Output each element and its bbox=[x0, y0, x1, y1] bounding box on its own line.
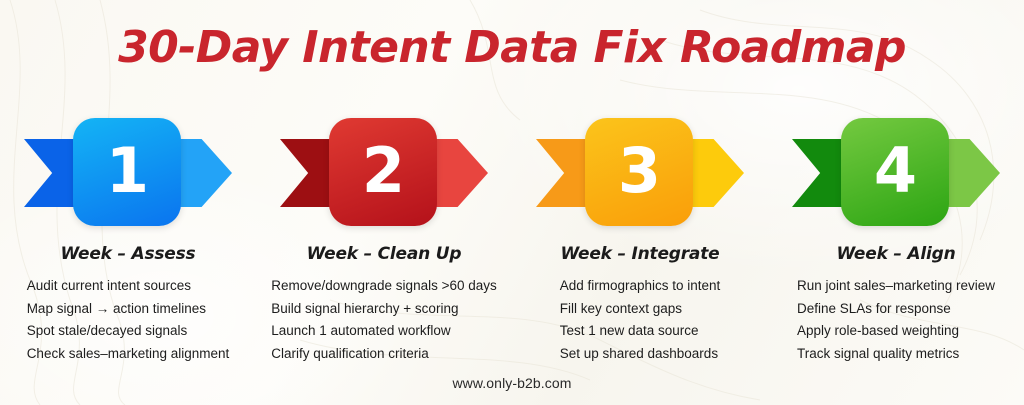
step-4-tile: 4 bbox=[841, 118, 949, 226]
step-3: 3 Week – Integrate Add firmographics to … bbox=[512, 118, 768, 365]
step-1-badge: 1 bbox=[20, 118, 236, 226]
footer-url: www.only-b2b.com bbox=[0, 375, 1024, 391]
step-2-bullets: Remove/downgrade signals >60 days Build … bbox=[271, 275, 497, 365]
list-item: Define SLAs for response bbox=[797, 298, 995, 321]
infographic-canvas: 30-Day Intent Data Fix Roadmap 1 Week – … bbox=[0, 0, 1024, 405]
list-item: Clarify qualification criteria bbox=[271, 343, 497, 366]
step-2: 2 Week – Clean Up Remove/downgrade signa… bbox=[256, 118, 512, 365]
step-1-tile: 1 bbox=[73, 118, 181, 226]
page-title: 30-Day Intent Data Fix Roadmap bbox=[0, 22, 1024, 74]
list-item: Spot stale/decayed signals bbox=[27, 320, 230, 343]
list-item: Apply role-based weighting bbox=[797, 320, 995, 343]
steps-row: 1 Week – Assess Audit current intent sou… bbox=[0, 118, 1024, 365]
step-4: 4 Week – Align Run joint sales–marketing… bbox=[768, 118, 1024, 365]
list-item: Remove/downgrade signals >60 days bbox=[271, 275, 497, 298]
step-2-number: 2 bbox=[362, 140, 404, 202]
step-1-number: 1 bbox=[106, 140, 148, 202]
list-item: Build signal hierarchy + scoring bbox=[271, 298, 497, 321]
step-4-number: 4 bbox=[874, 140, 916, 202]
list-item: Set up shared dashboards bbox=[560, 343, 721, 366]
list-item: Map signal → action timelines bbox=[27, 298, 230, 321]
page-title-text: 30-Day Intent Data Fix Roadmap bbox=[118, 22, 906, 74]
step-1-bullets: Audit current intent sources Map signal … bbox=[27, 275, 230, 365]
list-item: Track signal quality metrics bbox=[797, 343, 995, 366]
step-2-badge: 2 bbox=[276, 118, 492, 226]
step-2-tile: 2 bbox=[329, 118, 437, 226]
step-1-heading: Week – Assess bbox=[61, 243, 196, 265]
list-item: Fill key context gaps bbox=[560, 298, 721, 321]
step-4-heading: Week – Align bbox=[836, 243, 955, 265]
step-1: 1 Week – Assess Audit current intent sou… bbox=[0, 118, 256, 365]
list-item: Run joint sales–marketing review bbox=[797, 275, 995, 298]
list-item: Add firmographics to intent bbox=[560, 275, 721, 298]
list-item: Test 1 new data source bbox=[560, 320, 721, 343]
step-3-number: 3 bbox=[618, 140, 660, 202]
step-3-heading: Week – Integrate bbox=[561, 243, 720, 265]
step-4-badge: 4 bbox=[788, 118, 1004, 226]
list-item: Check sales–marketing alignment bbox=[27, 343, 230, 366]
step-3-bullets: Add firmographics to intent Fill key con… bbox=[560, 275, 721, 365]
list-item: Launch 1 automated workflow bbox=[271, 320, 497, 343]
step-3-badge: 3 bbox=[532, 118, 748, 226]
step-3-tile: 3 bbox=[585, 118, 693, 226]
list-item: Audit current intent sources bbox=[27, 275, 230, 298]
step-2-heading: Week – Clean Up bbox=[307, 243, 462, 265]
step-4-bullets: Run joint sales–marketing review Define … bbox=[797, 275, 995, 365]
